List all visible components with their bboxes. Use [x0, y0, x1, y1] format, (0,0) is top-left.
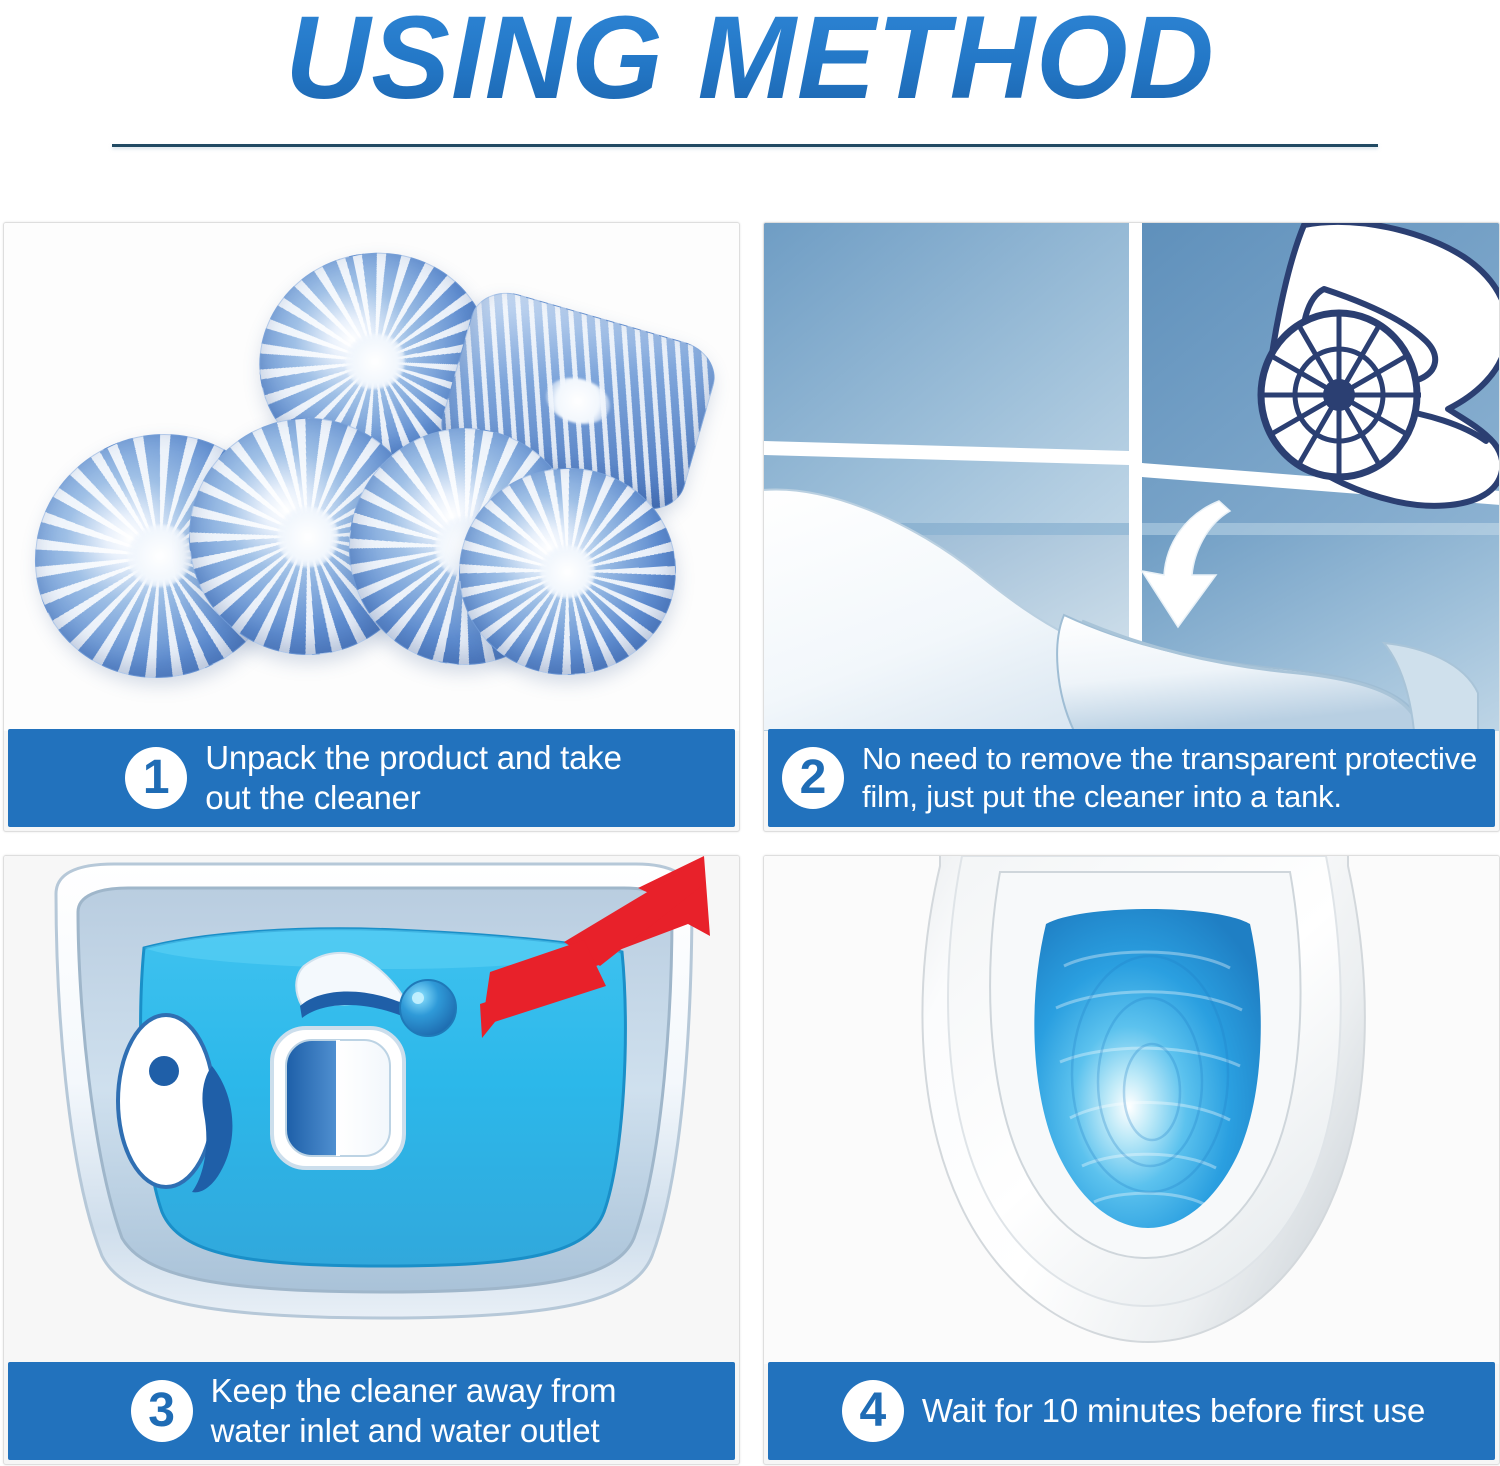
title-divider — [112, 144, 1378, 147]
tablet-setting-position-marker — [400, 980, 456, 1036]
step-caption-text: No need to remove the transparent protec… — [862, 740, 1477, 816]
header: USING METHOD — [0, 0, 1500, 200]
tank-diagram-svg — [4, 856, 739, 1364]
step-caption-text: Wait for 10 minutes before first use — [922, 1391, 1425, 1431]
tablets-photo — [4, 223, 739, 731]
step-panel-3: Setting position Water inlet/outlet 3 Ke… — [3, 855, 740, 1465]
step-caption-bar-1: 1 Unpack the product and take out the cl… — [8, 729, 735, 827]
toilet-bowl-photo — [764, 856, 1499, 1364]
hand-dropping-tablet-illustration — [764, 223, 1499, 731]
tablet-highlight — [412, 992, 424, 1004]
step-number-badge: 1 — [125, 747, 187, 809]
tank-drop-svg — [764, 223, 1499, 731]
step-caption-bar-4: 4 Wait for 10 minutes before first use — [768, 1362, 1495, 1460]
step-number-badge: 4 — [842, 1380, 904, 1442]
step-number-badge: 2 — [782, 747, 844, 809]
step-caption-bar-3: 3 Keep the cleaner away from water inlet… — [8, 1362, 735, 1460]
step-caption-bar-2: 2 No need to remove the transparent prot… — [768, 729, 1495, 827]
bowl-svg — [764, 856, 1499, 1364]
step-caption-text: Keep the cleaner away from water inlet a… — [211, 1371, 617, 1451]
step-caption-text: Unpack the product and take out the clea… — [205, 738, 622, 818]
steps-grid: 1 Unpack the product and take out the cl… — [3, 222, 1497, 1466]
step-number-badge: 3 — [131, 1380, 193, 1442]
cleaner-tablet-icon — [1261, 313, 1421, 477]
float-ball — [118, 1015, 214, 1187]
tank-top-view-diagram — [4, 856, 739, 1364]
step-panel-2: 2 No need to remove the transparent prot… — [763, 222, 1500, 832]
float-ball-pivot — [149, 1056, 179, 1086]
step-panel-4: 4 Wait for 10 minutes before first use — [763, 855, 1500, 1465]
page-title: USING METHOD — [0, 0, 1500, 122]
step-panel-1: 1 Unpack the product and take out the cl… — [3, 222, 740, 832]
